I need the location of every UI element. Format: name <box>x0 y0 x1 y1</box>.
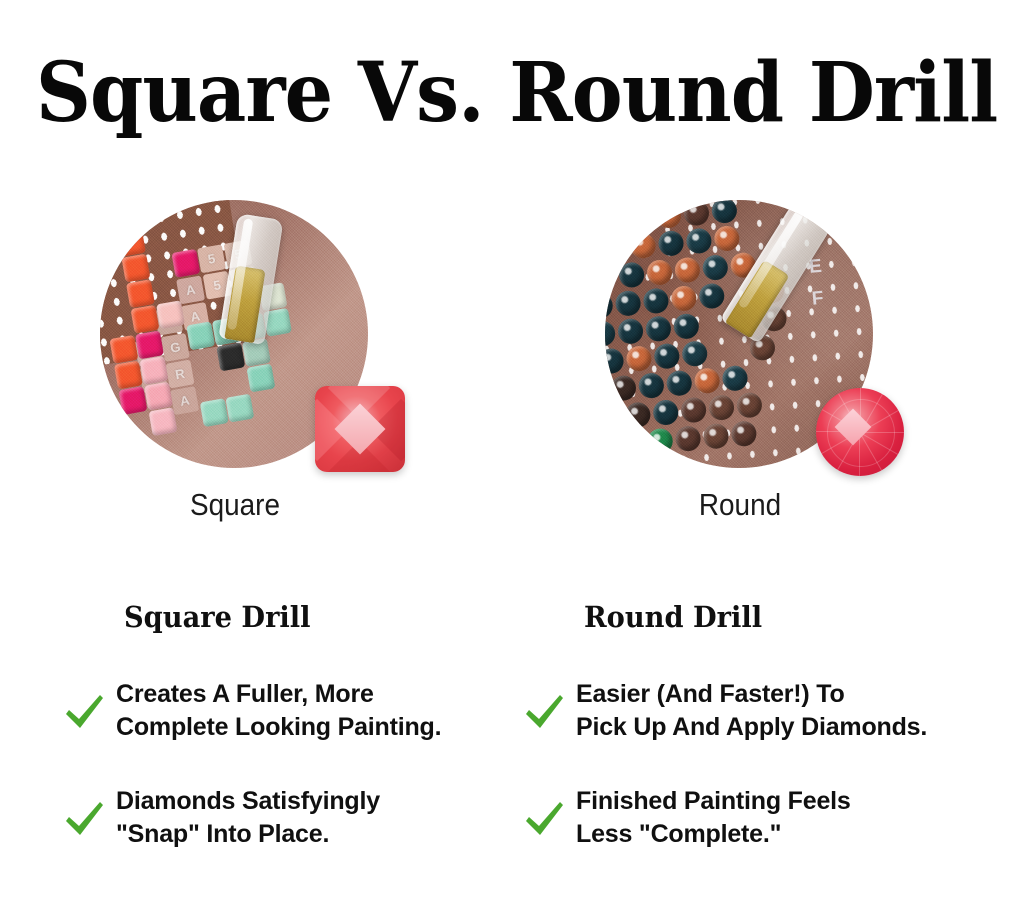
check-icon <box>62 798 106 842</box>
list-item: Diamonds Satisfyingly "Snap" Into Place. <box>62 785 532 850</box>
check-icon <box>522 691 566 735</box>
list-item-label: Finished Painting Feels Less "Complete." <box>576 785 851 850</box>
list-item: Creates A Fuller, More Complete Looking … <box>62 678 532 743</box>
square-drill-photo-wrap: 5 5 A 5 5 G A R G 4 R A <box>95 196 415 486</box>
round-drill-heading: Round Drill <box>584 600 968 634</box>
list-item: Finished Painting Feels Less "Complete." <box>522 785 992 850</box>
page-title: Square Vs. Round Drill <box>36 52 988 134</box>
round-gem-icon <box>816 388 904 476</box>
check-icon <box>62 691 106 735</box>
infographic-page: Square Vs. Round Drill 5 5 A 5 5 G A R G <box>0 0 1024 923</box>
comparison-columns: Square Drill Creates A Fuller, More Comp… <box>0 600 1024 900</box>
round-drill-photo-wrap: E F <box>600 196 920 486</box>
square-drill-bullets: Creates A Fuller, More Complete Looking … <box>62 678 532 850</box>
list-item: Easier (And Faster!) To Pick Up And Appl… <box>522 678 992 743</box>
list-item-label: Diamonds Satisfyingly "Snap" Into Place. <box>116 785 380 850</box>
square-gem-icon <box>315 386 405 472</box>
list-item-label: Easier (And Faster!) To Pick Up And Appl… <box>576 678 927 743</box>
square-drill-column: Square Drill Creates A Fuller, More Comp… <box>62 600 532 892</box>
list-item-label: Creates A Fuller, More Complete Looking … <box>116 678 441 743</box>
round-drill-column: Round Drill Easier (And Faster!) To Pick… <box>522 600 992 892</box>
photo-comparison: 5 5 A 5 5 G A R G 4 R A <box>0 196 1024 486</box>
check-icon <box>522 798 566 842</box>
round-drill-bullets: Easier (And Faster!) To Pick Up And Appl… <box>522 678 992 850</box>
square-drill-heading: Square Drill <box>124 600 508 634</box>
round-photo-caption: Round <box>614 487 866 523</box>
square-photo-caption: Square <box>109 487 361 523</box>
